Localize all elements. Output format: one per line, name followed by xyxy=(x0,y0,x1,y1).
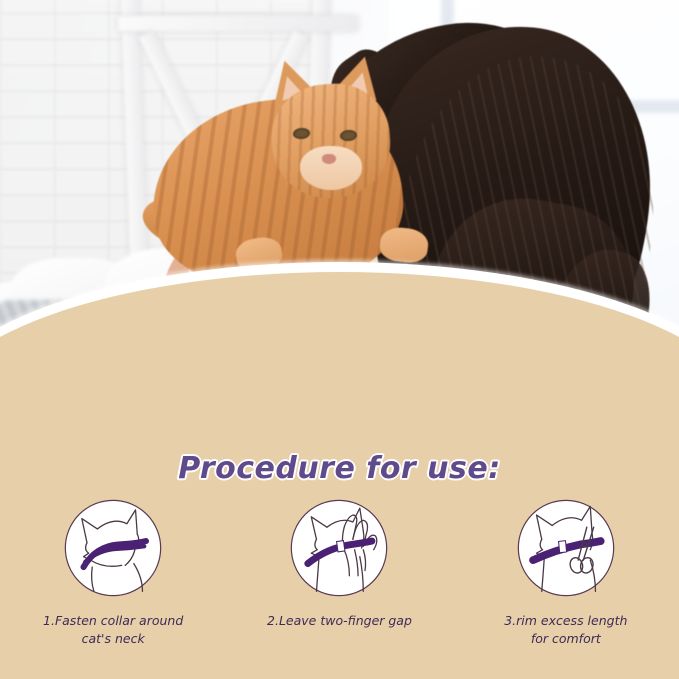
product-infographic: Procedure for use: xyxy=(0,0,679,679)
step-1-caption: 1.Fasten collar around cat's neck xyxy=(13,612,213,648)
step-2: 2.Leave two-finger gap xyxy=(237,496,442,630)
cat-collar-fasten-icon xyxy=(61,496,165,600)
step-2-caption: 2.Leave two-finger gap xyxy=(239,612,439,630)
cat-nose xyxy=(322,154,336,164)
cat-collar-two-finger-gap-icon xyxy=(287,496,391,600)
page-title: Procedure for use: xyxy=(0,451,679,486)
steps-row: 1.Fasten collar around cat's neck xyxy=(0,496,679,648)
procedure-panel: Procedure for use: xyxy=(0,424,679,679)
cat-paw xyxy=(378,226,429,265)
step-3-caption: 3.rim excess length for comfort xyxy=(466,612,666,648)
step-1: 1.Fasten collar around cat's neck xyxy=(11,496,216,648)
cat-muzzle xyxy=(300,146,362,190)
cat-collar-trim-scissors-icon xyxy=(514,496,618,600)
lifestyle-photo xyxy=(0,0,679,432)
step-3: 3.rim excess length for comfort xyxy=(463,496,668,648)
